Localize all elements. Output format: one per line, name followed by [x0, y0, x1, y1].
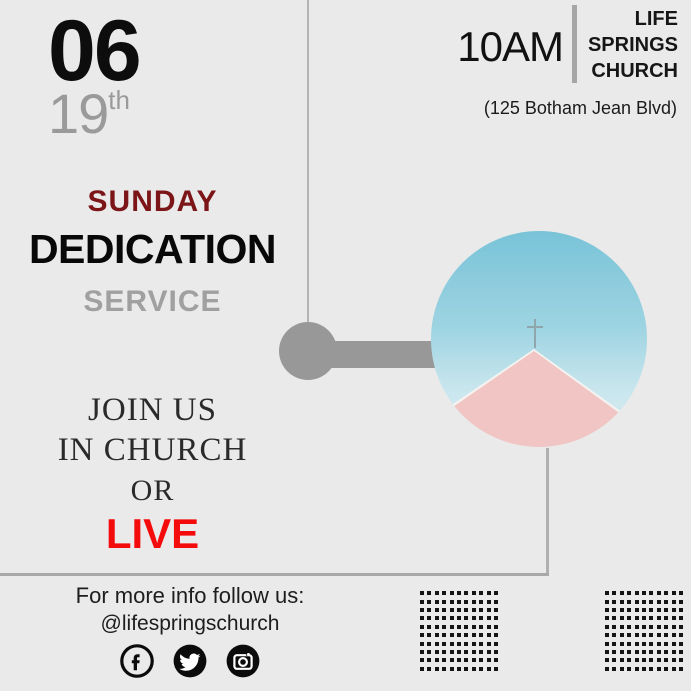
dot	[487, 616, 491, 620]
dot	[605, 600, 609, 604]
dot	[487, 650, 491, 654]
dot	[450, 633, 454, 637]
dot	[479, 616, 483, 620]
dot	[627, 667, 631, 671]
dot	[450, 625, 454, 629]
dot	[420, 658, 424, 662]
dot	[679, 633, 683, 637]
dot	[679, 600, 683, 604]
dot	[472, 591, 476, 595]
dot	[457, 625, 461, 629]
dot	[664, 642, 668, 646]
dot	[427, 600, 431, 604]
dot	[679, 616, 683, 620]
dot	[649, 616, 653, 620]
dot	[620, 658, 624, 662]
dot	[664, 658, 668, 662]
dot	[494, 591, 498, 595]
dot	[487, 667, 491, 671]
dot	[420, 600, 424, 604]
divider-vertical	[546, 448, 549, 576]
dot	[450, 616, 454, 620]
dot	[605, 608, 609, 612]
headline-block: SUNDAY DEDICATION SERVICE	[0, 185, 305, 322]
church-name-line-2: SPRINGS	[586, 32, 678, 58]
dot	[435, 591, 439, 595]
dot	[642, 616, 646, 620]
headline-dedication: DEDICATION	[0, 218, 305, 282]
dot	[479, 667, 483, 671]
dot	[464, 625, 468, 629]
dot	[494, 625, 498, 629]
dot	[435, 600, 439, 604]
dot	[442, 616, 446, 620]
dot	[672, 600, 676, 604]
dot	[605, 591, 609, 595]
headline-service: SERVICE	[0, 282, 305, 323]
dot	[642, 625, 646, 629]
dot	[612, 667, 616, 671]
dot	[605, 625, 609, 629]
dot	[672, 616, 676, 620]
dot	[450, 667, 454, 671]
divider-horizontal	[0, 573, 549, 576]
dot	[464, 591, 468, 595]
dot	[605, 650, 609, 654]
dot	[664, 633, 668, 637]
dot	[642, 642, 646, 646]
dot	[605, 616, 609, 620]
date-block: 06 19th	[40, 8, 270, 138]
dot	[672, 667, 676, 671]
dot	[420, 633, 424, 637]
dot	[679, 667, 683, 671]
dot	[635, 650, 639, 654]
dot	[612, 625, 616, 629]
dot	[479, 608, 483, 612]
footer-handle: @lifespringschurch	[0, 610, 380, 638]
dot	[627, 650, 631, 654]
instagram-icon[interactable]	[226, 644, 260, 678]
dot	[627, 600, 631, 604]
dot	[464, 616, 468, 620]
dot	[679, 642, 683, 646]
dot	[442, 625, 446, 629]
invitation-live: LIVE	[0, 511, 305, 557]
dot	[679, 650, 683, 654]
dot	[479, 642, 483, 646]
dot-grid-right	[603, 589, 685, 673]
dot	[642, 633, 646, 637]
dot	[657, 633, 661, 637]
dot	[435, 616, 439, 620]
dot	[627, 633, 631, 637]
dot	[479, 591, 483, 595]
dot	[450, 608, 454, 612]
dot	[479, 633, 483, 637]
dot	[464, 667, 468, 671]
dot	[679, 591, 683, 595]
dot	[672, 608, 676, 612]
dot	[664, 616, 668, 620]
dot	[450, 600, 454, 604]
dot	[494, 616, 498, 620]
dot	[657, 667, 661, 671]
dot	[649, 667, 653, 671]
footer-block: For more info follow us: @lifespringschu…	[0, 582, 380, 678]
facebook-icon[interactable]	[120, 644, 154, 678]
dot	[442, 642, 446, 646]
dot	[642, 658, 646, 662]
twitter-icon[interactable]	[173, 644, 207, 678]
dot	[612, 608, 616, 612]
dot	[649, 633, 653, 637]
dot	[464, 633, 468, 637]
dot	[627, 591, 631, 595]
dot	[442, 600, 446, 604]
dot	[627, 625, 631, 629]
dot	[620, 633, 624, 637]
dot	[464, 650, 468, 654]
dot	[427, 591, 431, 595]
dot	[657, 600, 661, 604]
dot	[664, 667, 668, 671]
dot	[657, 608, 661, 612]
dot	[635, 667, 639, 671]
dot	[427, 658, 431, 662]
dot	[457, 642, 461, 646]
dot	[649, 625, 653, 629]
dot	[442, 608, 446, 612]
dot	[479, 650, 483, 654]
dot	[427, 633, 431, 637]
dot-grid-left	[418, 589, 500, 673]
dot	[457, 650, 461, 654]
headline-sunday: SUNDAY	[0, 185, 305, 218]
dot	[649, 650, 653, 654]
dot	[620, 642, 624, 646]
dot	[442, 591, 446, 595]
dot	[664, 608, 668, 612]
dot	[420, 625, 424, 629]
dot	[664, 625, 668, 629]
dot	[464, 600, 468, 604]
dot	[612, 600, 616, 604]
church-address: (125 Botham Jean Blvd)	[484, 98, 677, 119]
dot	[612, 650, 616, 654]
dot	[672, 642, 676, 646]
dot	[494, 600, 498, 604]
dot	[435, 658, 439, 662]
dot	[494, 667, 498, 671]
dot	[450, 650, 454, 654]
dot	[605, 642, 609, 646]
dot	[657, 591, 661, 595]
dot	[642, 600, 646, 604]
dot	[472, 642, 476, 646]
dot	[642, 608, 646, 612]
dot	[605, 633, 609, 637]
dot	[649, 591, 653, 595]
dot	[472, 650, 476, 654]
dot	[672, 633, 676, 637]
dot	[450, 642, 454, 646]
dot	[612, 658, 616, 662]
dot	[472, 608, 476, 612]
date-day-group: 19th	[48, 86, 130, 142]
dot	[457, 600, 461, 604]
dot	[450, 591, 454, 595]
dot	[672, 591, 676, 595]
dot	[427, 650, 431, 654]
date-day: 19	[48, 82, 108, 145]
dot	[627, 642, 631, 646]
dot	[464, 608, 468, 612]
dot	[487, 591, 491, 595]
vertical-hairline-divider	[307, 0, 309, 330]
dot	[635, 616, 639, 620]
dot	[627, 616, 631, 620]
dot	[657, 616, 661, 620]
dot	[487, 658, 491, 662]
dot	[472, 658, 476, 662]
dot	[620, 667, 624, 671]
dot	[487, 625, 491, 629]
vertical-separator-bar	[572, 5, 577, 83]
dot	[612, 633, 616, 637]
dot	[635, 600, 639, 604]
dot	[420, 608, 424, 612]
dot	[635, 591, 639, 595]
service-time: 10AM	[457, 26, 563, 68]
dot	[672, 658, 676, 662]
dot	[479, 658, 483, 662]
dot	[487, 600, 491, 604]
dot	[464, 642, 468, 646]
dot	[664, 591, 668, 595]
church-name: LIFE SPRINGS CHURCH	[586, 6, 678, 84]
dot	[679, 658, 683, 662]
dot	[679, 625, 683, 629]
dot	[635, 658, 639, 662]
dot	[472, 633, 476, 637]
dot	[494, 642, 498, 646]
dot	[672, 650, 676, 654]
dot	[620, 608, 624, 612]
invitation-line-2: IN CHURCH	[0, 430, 305, 470]
dot	[472, 616, 476, 620]
dot	[420, 591, 424, 595]
dot	[605, 667, 609, 671]
dot	[427, 608, 431, 612]
dot	[435, 667, 439, 671]
dot	[457, 658, 461, 662]
dot	[487, 608, 491, 612]
invitation-line-1: JOIN US	[0, 390, 305, 430]
dot	[657, 650, 661, 654]
dot	[649, 658, 653, 662]
dot	[457, 616, 461, 620]
dot	[420, 616, 424, 620]
footer-call-to-action: For more info follow us:	[0, 582, 380, 610]
dot	[627, 658, 631, 662]
dot	[442, 650, 446, 654]
dot	[472, 667, 476, 671]
dot	[635, 625, 639, 629]
dot	[635, 608, 639, 612]
date-day-suffix: th	[108, 85, 130, 115]
social-links-row	[0, 644, 380, 678]
dot	[672, 625, 676, 629]
church-name-line-3: CHURCH	[586, 58, 678, 84]
dot	[442, 667, 446, 671]
dot	[605, 658, 609, 662]
dot	[457, 633, 461, 637]
dot	[457, 608, 461, 612]
dot	[420, 667, 424, 671]
invitation-line-3: OR	[0, 471, 305, 512]
dot	[620, 591, 624, 595]
dot	[657, 658, 661, 662]
dot	[427, 616, 431, 620]
dot	[635, 633, 639, 637]
dot	[427, 642, 431, 646]
dot	[457, 667, 461, 671]
dot	[435, 608, 439, 612]
dot	[435, 633, 439, 637]
dot	[494, 633, 498, 637]
connector-circle	[279, 322, 337, 380]
dot	[487, 633, 491, 637]
dot	[620, 616, 624, 620]
dot	[442, 633, 446, 637]
event-flyer: 06 19th 10AM LIFE SPRINGS CHURCH (125 Bo…	[0, 0, 691, 691]
dot	[457, 591, 461, 595]
dot	[679, 608, 683, 612]
dot	[657, 625, 661, 629]
dot	[620, 650, 624, 654]
dot	[642, 591, 646, 595]
dot	[472, 600, 476, 604]
dot	[420, 642, 424, 646]
dot	[464, 658, 468, 662]
dot	[420, 650, 424, 654]
dot	[649, 642, 653, 646]
dot	[657, 642, 661, 646]
dot	[442, 658, 446, 662]
dot	[649, 608, 653, 612]
dot	[427, 625, 431, 629]
cross-icon	[534, 319, 536, 348]
dot	[435, 625, 439, 629]
dot	[427, 667, 431, 671]
dot	[435, 650, 439, 654]
dot	[635, 642, 639, 646]
dot	[472, 625, 476, 629]
dot	[627, 608, 631, 612]
church-roof-with-cross-photo	[431, 231, 647, 447]
dot	[450, 658, 454, 662]
dot	[612, 616, 616, 620]
dot	[664, 600, 668, 604]
dot	[664, 650, 668, 654]
invitation-block: JOIN US IN CHURCH OR LIVE	[0, 390, 305, 557]
dot	[612, 642, 616, 646]
dot	[479, 600, 483, 604]
dot	[642, 667, 646, 671]
church-name-line-1: LIFE	[586, 6, 678, 32]
dot	[620, 600, 624, 604]
dot	[494, 658, 498, 662]
dot	[642, 650, 646, 654]
dot	[620, 625, 624, 629]
dot	[494, 650, 498, 654]
dot	[435, 642, 439, 646]
dot	[649, 600, 653, 604]
dot	[612, 591, 616, 595]
dot	[487, 642, 491, 646]
dot	[494, 608, 498, 612]
dot	[479, 625, 483, 629]
roof-graphic	[431, 349, 647, 447]
